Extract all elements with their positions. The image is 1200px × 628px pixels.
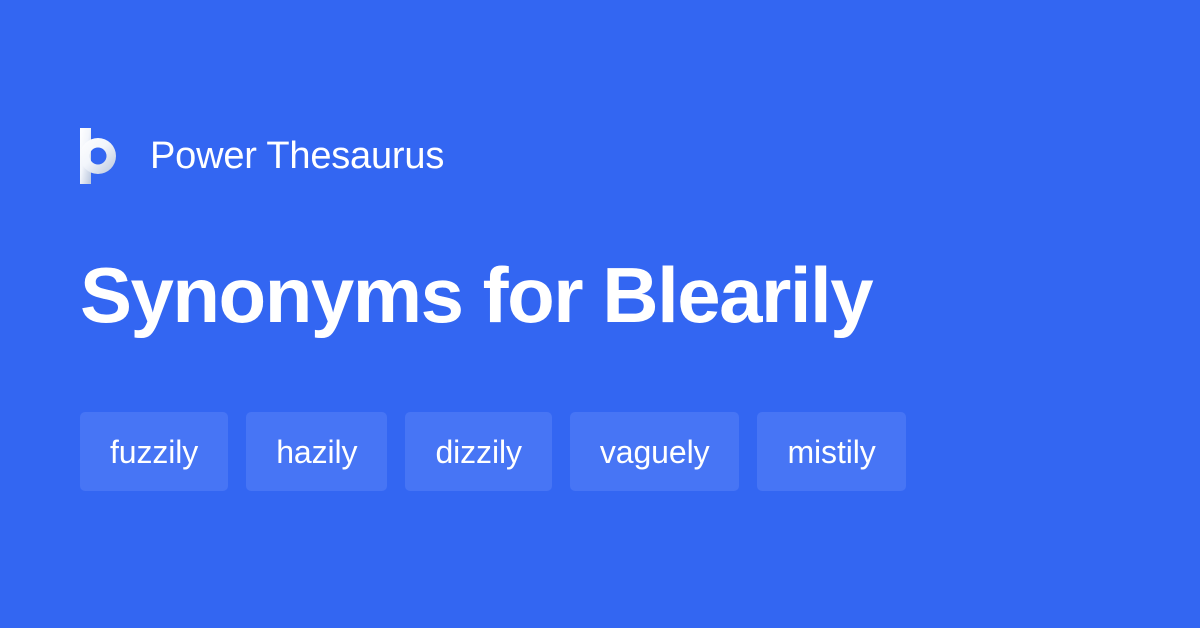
- synonym-chip[interactable]: dizzily: [405, 412, 551, 491]
- synonym-chip[interactable]: hazily: [246, 412, 387, 491]
- share-card: power thesaurus Synonyms for Blearily fu…: [0, 0, 1200, 628]
- synonym-chip[interactable]: mistily: [757, 412, 905, 491]
- synonym-chip[interactable]: vaguely: [570, 412, 740, 491]
- brand-name: power thesaurus: [150, 137, 444, 175]
- synonym-chip[interactable]: fuzzily: [80, 412, 228, 491]
- synonym-chip-list: fuzzily hazily dizzily vaguely mistily: [80, 412, 1120, 491]
- page-title: Synonyms for Blearily: [80, 248, 872, 342]
- power-thesaurus-b-logo-icon: [80, 128, 126, 184]
- brand-lockup[interactable]: power thesaurus: [80, 128, 444, 184]
